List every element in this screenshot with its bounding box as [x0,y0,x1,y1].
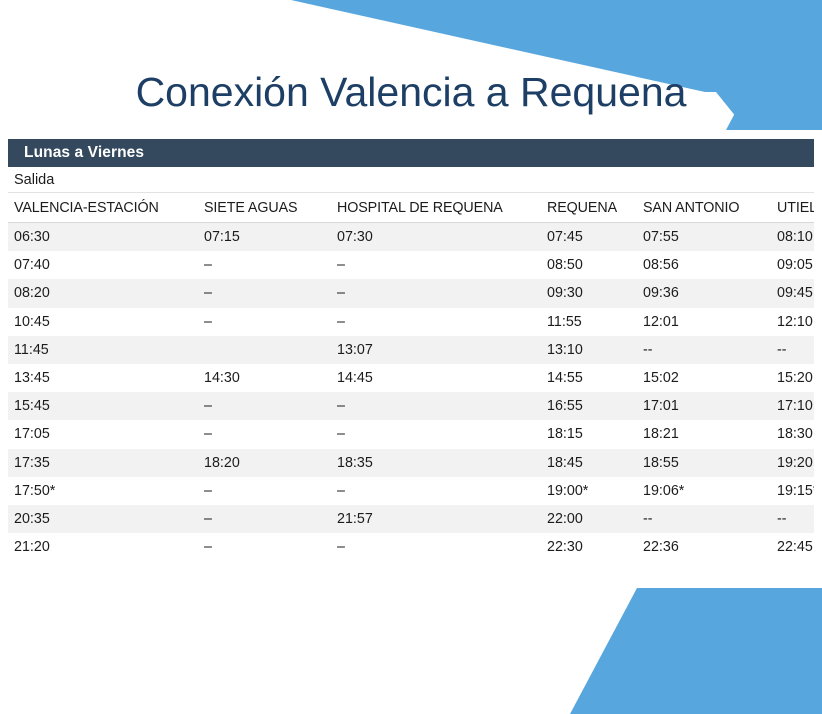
cell-r0-c4: 07:55 [637,223,771,252]
cell-r1-c4: 08:56 [637,251,771,279]
table-row: 07:40––08:5008:5609:05 [8,251,814,279]
bottom-right-blue-wedge [570,588,822,714]
cell-r7-c3: 18:15 [541,420,637,448]
cell-r7-c2: – [331,420,541,448]
cell-r4-c1 [198,336,331,364]
cell-r1-c5: 09:05 [771,251,814,279]
cell-r2-c2: – [331,279,541,307]
timetable-header-row: VALENCIA-ESTACIÓNSIETE AGUASHOSPITAL DE … [8,193,814,223]
cell-r9-c3: 19:00* [541,477,637,505]
table-row: 13:4514:3014:4514:5515:0215:20 [8,364,814,392]
cell-r7-c4: 18:21 [637,420,771,448]
column-header-5: UTIEL [771,193,814,223]
cell-r1-c1: – [198,251,331,279]
cell-r5-c4: 15:02 [637,364,771,392]
cell-r9-c5: 19:15* [771,477,814,505]
cell-r11-c4: 22:36 [637,533,771,561]
timetable: VALENCIA-ESTACIÓNSIETE AGUASHOSPITAL DE … [8,193,814,561]
cell-r7-c5: 18:30 [771,420,814,448]
cell-r5-c5: 15:20 [771,364,814,392]
timetable-head: VALENCIA-ESTACIÓNSIETE AGUASHOSPITAL DE … [8,193,814,223]
cell-r10-c0: 20:35 [8,505,198,533]
cell-r0-c2: 07:30 [331,223,541,252]
section-label-salida: Salida [8,167,814,193]
cell-r0-c0: 06:30 [8,223,198,252]
cell-r8-c4: 18:55 [637,449,771,477]
cell-r6-c0: 15:45 [8,392,198,420]
table-row: 15:45––16:5517:0117:10 [8,392,814,420]
cell-r8-c2: 18:35 [331,449,541,477]
table-row: 17:05––18:1518:2118:30 [8,420,814,448]
cell-r6-c4: 17:01 [637,392,771,420]
cell-r1-c0: 07:40 [8,251,198,279]
cell-r2-c3: 09:30 [541,279,637,307]
cell-r9-c4: 19:06* [637,477,771,505]
cell-r4-c0: 11:45 [8,336,198,364]
cell-r2-c4: 09:36 [637,279,771,307]
cell-r9-c1: – [198,477,331,505]
column-header-0: VALENCIA-ESTACIÓN [8,193,198,223]
cell-r1-c3: 08:50 [541,251,637,279]
cell-r8-c1: 18:20 [198,449,331,477]
cell-r4-c4: -- [637,336,771,364]
column-header-3: REQUENA [541,193,637,223]
schedule-table-block: Lunas a Viernes Salida VALENCIA-ESTACIÓN… [8,139,814,561]
cell-r10-c1: – [198,505,331,533]
cell-r7-c0: 17:05 [8,420,198,448]
cell-r9-c0: 17:50* [8,477,198,505]
cell-r9-c2: – [331,477,541,505]
page-title: Conexión Valencia a Requena [136,70,687,115]
table-row: 10:45––11:5512:0112:10 [8,308,814,336]
cell-r6-c5: 17:10 [771,392,814,420]
cell-r8-c5: 19:20 [771,449,814,477]
cell-r3-c1: – [198,308,331,336]
cell-r5-c1: 14:30 [198,364,331,392]
title-container: Conexión Valencia a Requena [0,70,822,115]
cell-r2-c0: 08:20 [8,279,198,307]
cell-r11-c1: – [198,533,331,561]
cell-r2-c5: 09:45 [771,279,814,307]
cell-r6-c2: – [331,392,541,420]
cell-r10-c3: 22:00 [541,505,637,533]
table-row: 11:4513:0713:10---- [8,336,814,364]
cell-r3-c4: 12:01 [637,308,771,336]
cell-r10-c2: 21:57 [331,505,541,533]
cell-r6-c3: 16:55 [541,392,637,420]
day-range-band: Lunas a Viernes [8,139,814,167]
cell-r4-c2: 13:07 [331,336,541,364]
cell-r8-c0: 17:35 [8,449,198,477]
cell-r10-c5: -- [771,505,814,533]
table-row: 17:3518:2018:3518:4518:5519:20 [8,449,814,477]
table-row: 20:35–21:5722:00---- [8,505,814,533]
cell-r5-c3: 14:55 [541,364,637,392]
cell-r3-c2: – [331,308,541,336]
column-header-4: SAN ANTONIO [637,193,771,223]
cell-r4-c3: 13:10 [541,336,637,364]
cell-r5-c0: 13:45 [8,364,198,392]
cell-r3-c3: 11:55 [541,308,637,336]
cell-r8-c3: 18:45 [541,449,637,477]
cell-r0-c5: 08:10 [771,223,814,252]
cell-r2-c1: – [198,279,331,307]
cell-r11-c2: – [331,533,541,561]
cell-r1-c2: – [331,251,541,279]
cell-r7-c1: – [198,420,331,448]
cell-r11-c5: 22:45 [771,533,814,561]
cell-r6-c1: – [198,392,331,420]
column-header-2: HOSPITAL DE REQUENA [331,193,541,223]
cell-r5-c2: 14:45 [331,364,541,392]
cell-r3-c5: 12:10 [771,308,814,336]
cell-r0-c1: 07:15 [198,223,331,252]
cell-r0-c3: 07:45 [541,223,637,252]
cell-r4-c5: -- [771,336,814,364]
table-row: 21:20––22:3022:3622:45 [8,533,814,561]
table-row: 08:20––09:3009:3609:45 [8,279,814,307]
column-header-1: SIETE AGUAS [198,193,331,223]
cell-r11-c3: 22:30 [541,533,637,561]
cell-r11-c0: 21:20 [8,533,198,561]
timetable-body: 06:3007:1507:3007:4507:5508:1007:40––08:… [8,223,814,562]
table-row: 06:3007:1507:3007:4507:5508:10 [8,223,814,252]
cell-r3-c0: 10:45 [8,308,198,336]
table-row: 17:50*––19:00*19:06*19:15* [8,477,814,505]
cell-r10-c4: -- [637,505,771,533]
